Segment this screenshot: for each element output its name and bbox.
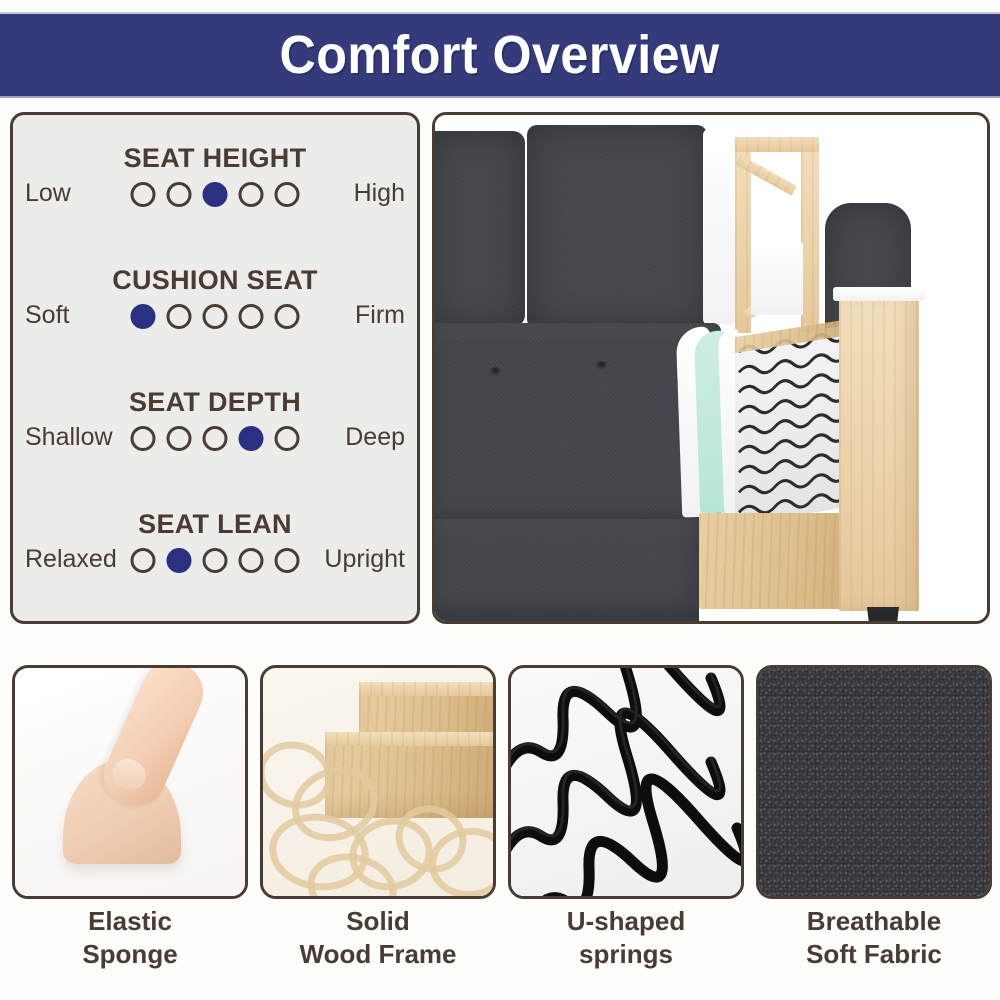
rating-scale-2: ShallowDeep	[13, 421, 417, 457]
rating-dot-3-5[interactable]	[275, 548, 300, 573]
rating-dot-1-4[interactable]	[239, 304, 264, 329]
rating-right-label-2: Deep	[345, 423, 405, 452]
feature-caption-1-line2: Wood Frame	[260, 938, 496, 971]
feature-tile-u-shaped-springs	[508, 665, 744, 899]
rating-dot-3-3[interactable]	[203, 548, 228, 573]
feature-caption-2-line2: springs	[508, 938, 744, 971]
rating-scale-3: RelaxedUpright	[13, 543, 417, 579]
rating-dots-3	[131, 548, 300, 573]
rating-dot-0-4[interactable]	[239, 182, 264, 207]
seat-tuft-1	[489, 367, 502, 376]
sofa-leg	[867, 607, 899, 624]
feature-caption-2: U-shaped springs	[508, 905, 744, 971]
rating-dots-2	[131, 426, 300, 451]
back-cushion-right	[527, 125, 707, 329]
seat-tuft-2	[595, 361, 608, 370]
feature-caption-0-line2: Sponge	[12, 938, 248, 971]
wood-arm-block	[839, 291, 919, 611]
rating-dot-3-2-selected[interactable]	[167, 548, 192, 573]
frame-back-panel	[751, 243, 803, 315]
feature-caption-3: Breathable Soft Fabric	[756, 905, 992, 971]
rating-dot-3-4[interactable]	[239, 548, 264, 573]
rating-dot-3-1[interactable]	[131, 548, 156, 573]
feature-caption-0-line1: Elastic	[12, 905, 248, 938]
rating-dots-0	[131, 182, 300, 207]
rating-right-label-3: Upright	[324, 545, 405, 574]
rating-scale-1: SoftFirm	[13, 299, 417, 335]
header-bottom-rule	[0, 96, 1000, 98]
fabric-swatch-icon	[759, 668, 989, 896]
rating-dot-0-3-selected[interactable]	[203, 182, 228, 207]
feature-tile-elastic-sponge	[12, 665, 248, 899]
feature-tile-solid-wood-frame	[260, 665, 496, 899]
rating-dot-0-1[interactable]	[131, 182, 156, 207]
feature-caption-3-line1: Breathable	[756, 905, 992, 938]
rating-left-label-3: Relaxed	[25, 545, 117, 574]
arm-wadding-trim	[833, 287, 925, 301]
rating-dot-1-3[interactable]	[203, 304, 228, 329]
rating-dot-2-3[interactable]	[203, 426, 228, 451]
rating-row-3: SEAT LEANRelaxedUpright	[13, 509, 417, 579]
rating-row-1: CUSHION SEATSoftFirm	[13, 265, 417, 335]
feature-caption-1-line1: Solid	[260, 905, 496, 938]
rating-left-label-0: Low	[25, 179, 71, 208]
rating-dot-1-2[interactable]	[167, 304, 192, 329]
feature-caption-0: Elastic Sponge	[12, 905, 248, 971]
rating-title-2: SEAT DEPTH	[13, 387, 417, 418]
frame-back-top-rail	[735, 137, 819, 152]
spring-coil-icon	[511, 668, 741, 896]
seat-base-skirt	[432, 519, 699, 624]
back-cushion-left	[432, 131, 525, 327]
wood-block-lower-top	[325, 732, 496, 746]
feature-caption-1: Solid Wood Frame	[260, 905, 496, 971]
feature-caption-3-line2: Soft Fabric	[756, 938, 992, 971]
rating-dot-2-2[interactable]	[167, 426, 192, 451]
rating-title-1: CUSHION SEAT	[13, 265, 417, 296]
rating-title-3: SEAT LEAN	[13, 509, 417, 540]
rating-title-0: SEAT HEIGHT	[13, 143, 417, 174]
feature-caption-2-line1: U-shaped	[508, 905, 744, 938]
sofa-cutaway-photo	[432, 112, 990, 624]
infographic-page: Comfort Overview SEAT HEIGHTLowHighCUSHI…	[0, 0, 1000, 1000]
rating-row-2: SEAT DEPTHShallowDeep	[13, 387, 417, 457]
rating-left-label-1: Soft	[25, 301, 69, 330]
rating-dot-0-5[interactable]	[275, 182, 300, 207]
rating-scale-0: LowHigh	[13, 177, 417, 213]
feature-tile-breathable-fabric	[756, 665, 992, 899]
rating-row-0: SEAT HEIGHTLowHigh	[13, 143, 417, 213]
page-header: Comfort Overview	[0, 14, 1000, 96]
rating-dot-1-5[interactable]	[275, 304, 300, 329]
rating-right-label-1: Firm	[355, 301, 405, 330]
rating-right-label-0: High	[354, 179, 405, 208]
rating-left-label-2: Shallow	[25, 423, 113, 452]
rating-dot-2-4-selected[interactable]	[239, 426, 264, 451]
page-title: Comfort Overview	[280, 28, 720, 82]
rating-dot-2-5[interactable]	[275, 426, 300, 451]
rating-dot-1-1-selected[interactable]	[131, 304, 156, 329]
rating-dot-2-1[interactable]	[131, 426, 156, 451]
sofa-illustration	[435, 115, 987, 621]
rating-dots-1	[131, 304, 300, 329]
fingernail-icon	[107, 754, 150, 795]
frame-back-post-right	[801, 137, 819, 333]
comfort-ratings-panel: SEAT HEIGHTLowHighCUSHION SEATSoftFirmSE…	[10, 112, 420, 624]
wadding-back	[703, 129, 737, 325]
wood-block-upper-top	[359, 682, 496, 696]
rating-dot-0-2[interactable]	[167, 182, 192, 207]
